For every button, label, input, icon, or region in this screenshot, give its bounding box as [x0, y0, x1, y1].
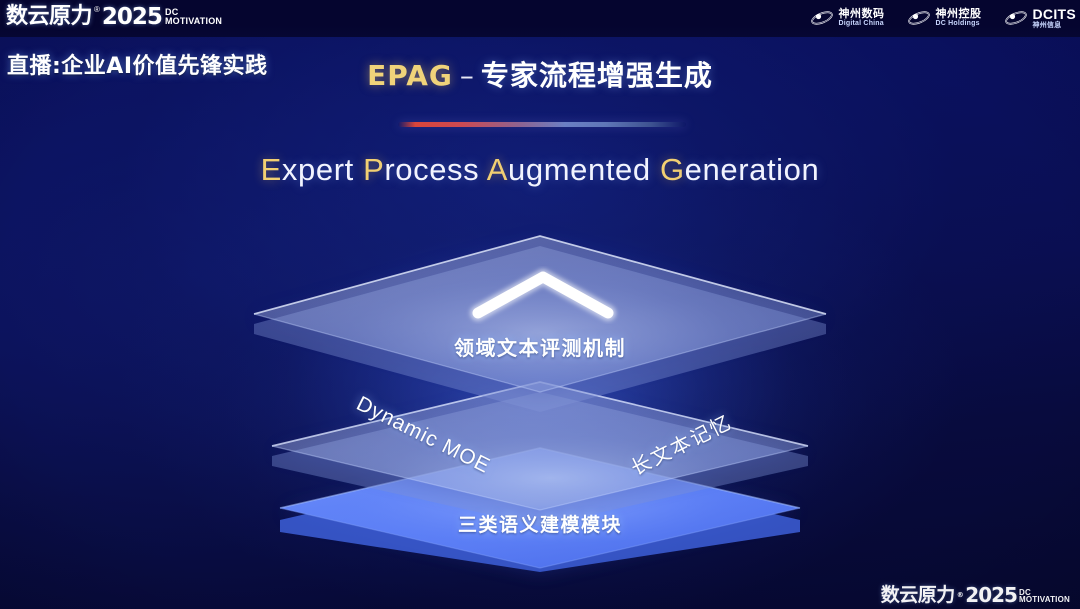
- subtitle-text-run: xpert: [282, 152, 363, 187]
- brand-dc-line2: MOTIVATION: [165, 17, 222, 26]
- partner-name-en: Digital China: [839, 20, 885, 27]
- subtitle-accent-letter: G: [660, 152, 685, 187]
- brand-registered-mark: ®: [94, 6, 100, 14]
- footer-dc-line2: MOTIVATION: [1019, 596, 1070, 604]
- swirl-icon: [907, 8, 931, 28]
- live-broadcast-label: 直播:企业AI价值先锋实践: [7, 48, 268, 80]
- title-divider-line: [398, 122, 686, 127]
- slide-subtitle: Expert Process Augmented Generation: [0, 152, 1080, 188]
- subtitle-text-run: ugmented: [508, 152, 660, 187]
- slide-stage: 领域文本评测机制 Dynamic MOE 长文本记忆 三类语义建模模块 数云原力…: [0, 0, 1080, 609]
- partner-name-en: DC Holdings: [936, 20, 982, 27]
- partner-logo-digital-china: 神州数码 Digital China: [810, 8, 885, 28]
- footer-dc-motivation: DC MOTIVATION: [1019, 589, 1070, 605]
- subtitle-text-run: rocess: [384, 152, 486, 187]
- subtitle-accent-letter: A: [487, 152, 508, 187]
- header-brand-logo: 数云原力 ® 2025 DC MOTIVATION: [6, 2, 222, 32]
- brand-year: 2025: [102, 6, 162, 29]
- subtitle-text-run: eneration: [685, 152, 820, 187]
- partner-logo-dcits: DCITS 神州信息: [1004, 7, 1077, 29]
- brand-dc-motivation: DC MOTIVATION: [165, 8, 222, 26]
- layer-label-bottom: 三类语义建模模块: [0, 510, 1080, 537]
- partner-logo-bar: 神州数码 Digital China 神州控股 DC Holdings: [810, 3, 1077, 33]
- partner-name-cn: DCITS: [1033, 7, 1077, 22]
- title-chinese: 专家流程增强生成: [481, 59, 713, 92]
- footer-watermark: 数云原力 ® 2025 DC MOTIVATION: [881, 585, 1070, 605]
- footer-brand-cn: 数云原力: [881, 586, 955, 605]
- brand-name-cn: 数云原力: [6, 6, 92, 28]
- partner-logo-dc-holdings: 神州控股 DC Holdings: [907, 8, 982, 28]
- footer-registered-mark: ®: [957, 592, 964, 599]
- swirl-icon: [810, 8, 834, 28]
- title-acronym: EPAG: [367, 59, 453, 92]
- partner-name-en: 神州信息: [1033, 22, 1077, 29]
- swirl-icon: [1004, 8, 1028, 28]
- layer-label-top: 领域文本评测机制: [0, 332, 1080, 361]
- subtitle-accent-letter: P: [363, 152, 384, 187]
- footer-brand-year: 2025: [965, 585, 1017, 605]
- partner-name-cn: 神州控股: [936, 9, 982, 21]
- title-dash: –: [460, 59, 474, 92]
- partner-name-cn: 神州数码: [839, 9, 885, 21]
- subtitle-accent-letter: E: [261, 152, 282, 187]
